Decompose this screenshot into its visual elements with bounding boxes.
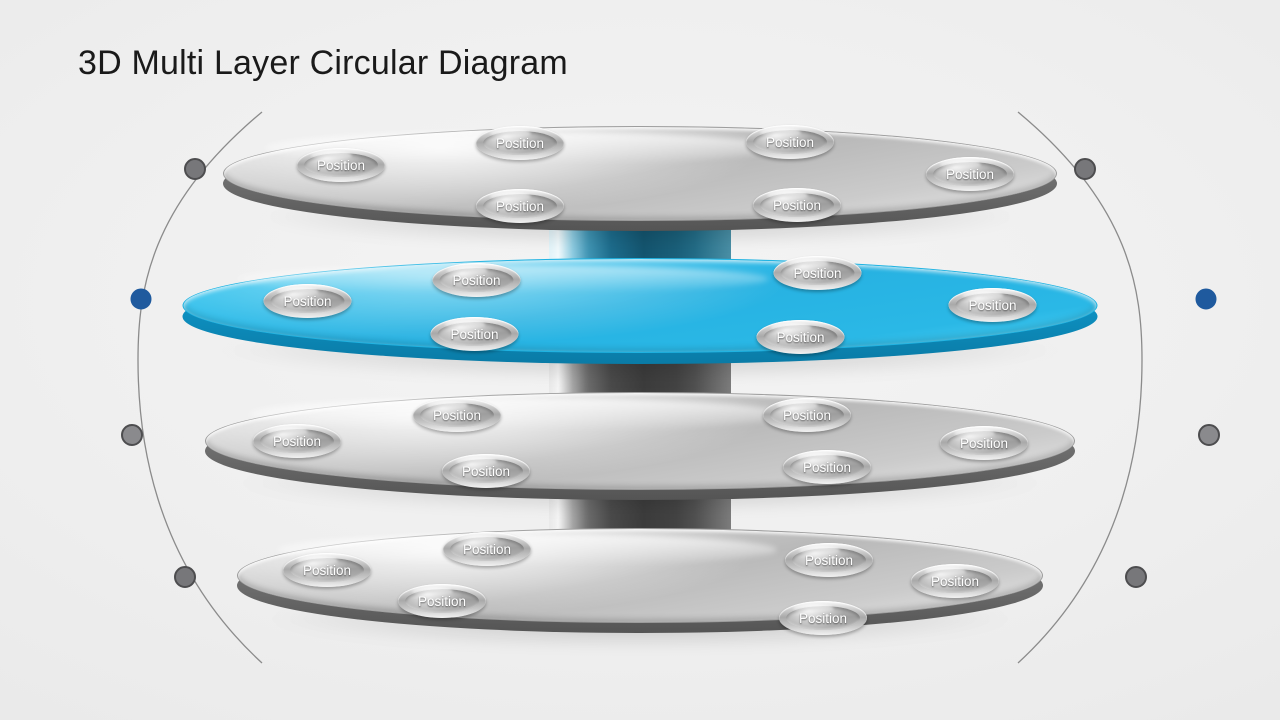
position-label: Position [968,298,1016,313]
position-pill[interactable]: Position [253,424,341,458]
position-label: Position [960,436,1008,451]
right-dot-1[interactable] [1075,159,1095,179]
position-pill[interactable]: Position [398,584,486,618]
position-pill[interactable]: Position [911,564,999,598]
position-pill[interactable]: Position [476,126,564,160]
slide-canvas: 3D Multi Layer Circular Diagram Tube Tex… [0,0,1280,720]
layer-2[interactable]: Position Position Position Position Posi… [183,258,1098,368]
position-label: Position [433,408,481,423]
position-label: Position [463,542,511,557]
position-label: Position [273,434,321,449]
position-pill[interactable]: Position [779,601,867,635]
position-pill[interactable]: Position [783,450,871,484]
right-dot-3[interactable] [1199,425,1219,445]
left-dot-2[interactable] [131,289,151,309]
position-pill[interactable]: Position [443,532,531,566]
position-label: Position [776,330,824,345]
layer-3[interactable]: Position Position Position Position Posi… [205,392,1075,500]
position-pill[interactable]: Position [746,125,834,159]
position-pill[interactable]: Position [283,553,371,587]
left-dot-1[interactable] [185,159,205,179]
position-label: Position [773,198,821,213]
position-pill[interactable]: Position [785,543,873,577]
position-pill[interactable]: Position [757,320,845,354]
position-pill[interactable]: Position [413,398,501,432]
right-dot-2[interactable] [1196,289,1216,309]
position-label: Position [303,563,351,578]
position-label: Position [418,594,466,609]
position-pill[interactable]: Position [763,398,851,432]
position-label: Position [452,273,500,288]
position-pill[interactable]: Position [442,454,530,488]
position-label: Position [283,294,331,309]
position-label: Position [783,408,831,423]
position-pill[interactable]: Position [926,157,1014,191]
position-label: Position [805,553,853,568]
position-label: Position [793,266,841,281]
position-label: Position [946,167,994,182]
position-pill[interactable]: Position [949,288,1037,322]
position-label: Position [450,327,498,342]
position-label: Position [799,611,847,626]
layer-4[interactable]: Position Position Position Position Posi… [237,528,1043,636]
left-dot-3[interactable] [122,425,142,445]
position-pill[interactable]: Position [476,189,564,223]
right-dot-4[interactable] [1126,567,1146,587]
page-title: 3D Multi Layer Circular Diagram [78,44,568,83]
position-label: Position [803,460,851,475]
position-pill[interactable]: Position [433,263,521,297]
disc-gloss [249,398,788,431]
position-label: Position [931,574,979,589]
position-label: Position [496,199,544,214]
position-pill[interactable]: Position [940,426,1028,460]
position-pill[interactable]: Position [264,284,352,318]
position-pill[interactable]: Position [431,317,519,351]
position-label: Position [766,135,814,150]
position-label: Position [496,136,544,151]
position-pill[interactable]: Position [774,256,862,290]
left-dot-4[interactable] [175,567,195,587]
position-label: Position [462,464,510,479]
layer-1[interactable]: Position Position Position Position Posi… [223,126,1057,234]
position-pill[interactable]: Position [297,148,385,182]
position-pill[interactable]: Position [753,188,841,222]
position-label: Position [317,158,365,173]
